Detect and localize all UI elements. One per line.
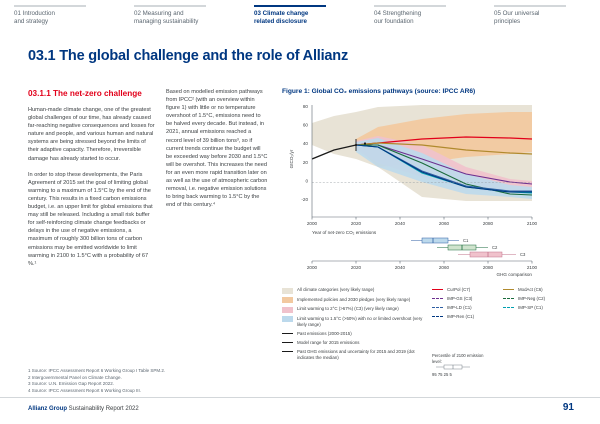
svg-text:2080: 2080: [483, 265, 494, 270]
nav-rule: [134, 5, 206, 7]
legend-item-past-emissions: Past emissions (2000-2015): [282, 331, 432, 337]
svg-text:2040: 2040: [395, 265, 406, 270]
percentile-note: Percentile of 2100 emission level: 95 75…: [432, 353, 492, 378]
legend-item-1p5c: Limit warming to 1.5°C (>50%) with no or…: [282, 316, 432, 328]
paragraph-2: In order to stop these developments, the…: [28, 171, 156, 268]
legend-label: CurPol (C7): [447, 287, 503, 293]
page-number: 91: [563, 402, 574, 413]
nav-rule: [494, 5, 566, 7]
legend-label: IMP-Neg (C2): [518, 296, 574, 302]
legend-item-imp-gs: IMP-GS (C3): [432, 296, 503, 302]
nav-item-universal-principles[interactable]: 05 Our universal principles: [480, 0, 600, 40]
legend-label: Past emissions (2000-2015): [297, 331, 432, 337]
legend-range-icon: [282, 342, 293, 343]
svg-text:2000: 2000: [307, 265, 318, 270]
legend-label: ModAct (C6): [518, 287, 574, 293]
legend-item-imp-ld: IMP-LD (C1): [432, 305, 503, 311]
svg-text:-20: -20: [301, 197, 308, 202]
legend-line-icon: [282, 333, 293, 334]
legend-label: Past GHG emissions and uncertainty for 2…: [297, 349, 432, 361]
paragraph-3: Based on modelled emission pathways from…: [166, 88, 268, 209]
chart-legend: All climate categories (very likely rang…: [282, 287, 574, 364]
nav-item-line1: 01 Introduction: [14, 10, 114, 18]
nav-item-strengthening[interactable]: 04 Strengthening our foundation: [360, 0, 480, 40]
page-footer: Allianz Group Sustainability Report 2022…: [0, 397, 600, 424]
svg-text:0: 0: [305, 178, 308, 183]
legend-line-icon: [503, 298, 514, 299]
nav-item-line2: our foundation: [374, 18, 474, 26]
paragraph-1: Human-made climate change, one of the gr…: [28, 106, 156, 163]
legend-label: IMP-LD (C1): [447, 305, 503, 311]
legend-spacer: [503, 314, 574, 320]
footer-document-label: Allianz Group Sustainability Report 2022: [28, 406, 139, 412]
nav-item-line2: related disclosure: [254, 18, 354, 26]
footnotes: 1 Source: IPCC Assessment Report 6 Worki…: [28, 368, 268, 394]
legend-line-icon: [432, 307, 443, 308]
nav-item-introduction[interactable]: 01 Introduction and strategy: [0, 0, 120, 40]
emissions-pathways-chart: 80 60 40 20 0 -20 GtCO₂/yr: [282, 101, 574, 281]
legend-line-icon: [432, 316, 443, 317]
past-ghg-dot-2015: [355, 144, 357, 146]
top-navigation: 01 Introduction and strategy 02 Measurin…: [0, 0, 600, 40]
svg-text:2100: 2100: [527, 265, 538, 270]
svg-text:20: 20: [303, 160, 309, 165]
legend-label: Implemented policies and 2030 pledges (v…: [297, 297, 432, 303]
svg-text:40: 40: [303, 141, 309, 146]
legend-item-model-range: Model range for 2015 emissions: [282, 340, 432, 346]
past-ghg-dot-2019: [364, 142, 366, 144]
legend-swatch-icon: [282, 316, 293, 322]
section-title: 03.1.1 The net-zero challenge: [28, 88, 156, 99]
legend-item-modact: ModAct (C6): [503, 287, 574, 293]
middle-text-column: Based on modelled emission pathways from…: [166, 88, 268, 217]
legend-swatch-icon: [282, 307, 293, 313]
legend-label: IMP-Ren (C1): [447, 314, 503, 320]
legend-item-2c: Limit warming to 2°C (>67%) (C3) (very l…: [282, 306, 432, 313]
netzero-boxplots: C1 C2 C3: [411, 238, 526, 257]
legend-item-all-categories: All climate categories (very likely rang…: [282, 287, 432, 294]
x-ticks-main: 2000 2020 2040 2060 2080 2100: [307, 217, 538, 226]
chart-area: 80 60 40 20 0 -20 GtCO₂/yr: [282, 101, 574, 281]
nav-rule: [14, 5, 86, 7]
middle-body-text: Based on modelled emission pathways from…: [166, 88, 268, 209]
x-ticks-sub: 2000 2020 2040 2060 2080 2100: [307, 261, 538, 270]
legend-column-left: All climate categories (very likely rang…: [282, 287, 432, 364]
legend-item-imp-sp: IMP-SP (C1): [503, 305, 574, 311]
nav-item-line1: 05 Our universal: [494, 10, 594, 18]
legend-line-icon: [432, 298, 443, 299]
svg-text:2060: 2060: [439, 221, 450, 226]
svg-text:80: 80: [303, 104, 309, 109]
left-text-column: 03.1.1 The net-zero challenge Human-made…: [28, 88, 156, 276]
svg-text:2100: 2100: [527, 221, 538, 226]
svg-text:GtCO₂/yr: GtCO₂/yr: [289, 149, 294, 168]
footnote-3: 3 Source: U.N. Emission Gap Report 2022.: [28, 381, 268, 388]
footer-doc: Sustainability Report 2022: [69, 406, 139, 412]
svg-text:C3: C3: [520, 252, 526, 257]
nav-item-line2: principles: [494, 18, 594, 26]
svg-text:C2: C2: [492, 245, 498, 250]
legend-item-imp-ren: IMP-Ren (C1): [432, 314, 503, 320]
footnote-4: 4 Source: IPCC Assessment Report 6 Worki…: [28, 388, 268, 395]
nav-item-line2: and strategy: [14, 18, 114, 26]
legend-item-imp-neg: IMP-Neg (C2): [503, 296, 574, 302]
footer-brand: Allianz Group: [28, 406, 69, 412]
percentile-note-text: Percentile of 2100 emission level:: [432, 353, 492, 364]
legend-swatch-icon: [282, 297, 293, 303]
legend-line-icon: [503, 307, 514, 308]
svg-text:2080: 2080: [483, 221, 494, 226]
percentile-scale-icon: [432, 364, 480, 372]
legend-dot-icon: [282, 351, 293, 352]
svg-text:2020: 2020: [351, 221, 362, 226]
legend-item-implemented-policies: Implemented policies and 2030 pledges (v…: [282, 297, 432, 304]
ghg-comparison-label: GHG comparison: [497, 272, 533, 277]
legend-label: Model range for 2015 emissions: [297, 340, 432, 346]
footnote-1: 1 Source: IPCC Assessment Report 6 Worki…: [28, 368, 268, 375]
percentile-ticks-text: 95 75 25 5: [432, 372, 492, 378]
nav-item-line2: managing sustainability: [134, 18, 234, 26]
nav-item-line1: 02 Measuring and: [134, 10, 234, 18]
figure-title: Figure 1: Global CO₂ emissions pathways …: [282, 88, 574, 95]
legend-item-past-ghg: Past GHG emissions and uncertainty for 2…: [282, 349, 432, 361]
left-body-text: Human-made climate change, one of the gr…: [28, 106, 156, 268]
nav-item-climate-change[interactable]: 03 Climate change related disclosure: [240, 0, 360, 40]
svg-text:2000: 2000: [307, 221, 318, 226]
svg-text:C1: C1: [463, 238, 469, 243]
svg-text:2020: 2020: [351, 265, 362, 270]
svg-text:60: 60: [303, 123, 309, 128]
nav-item-line1: 04 Strengthening: [374, 10, 474, 18]
legend-swatch-icon: [282, 288, 293, 294]
legend-line-icon: [503, 289, 514, 290]
nav-rule: [374, 5, 446, 7]
legend-label: Limit warming to 2°C (>67%) (C3) (very l…: [297, 306, 432, 312]
nav-rule: [254, 5, 326, 7]
legend-label: IMP-SP (C1): [518, 305, 574, 311]
legend-label: All climate categories (very likely rang…: [297, 287, 432, 293]
subplot-caption: Year of net-zero CO₂ emissions: [312, 230, 377, 235]
footnote-2: 2 Intergovernmental Panel on Climate Cha…: [28, 375, 268, 382]
legend-label: IMP-GS (C3): [447, 296, 503, 302]
nav-item-line1: 03 Climate change: [254, 10, 354, 18]
nav-item-measuring[interactable]: 02 Measuring and managing sustainability: [120, 0, 240, 40]
legend-label: Limit warming to 1.5°C (>50%) with no or…: [297, 316, 432, 328]
figure-1: Figure 1: Global CO₂ emissions pathways …: [282, 88, 574, 364]
svg-text:2060: 2060: [439, 265, 450, 270]
legend-item-curpol: CurPol (C7): [432, 287, 503, 293]
svg-text:2040: 2040: [395, 221, 406, 226]
legend-line-icon: [432, 289, 443, 290]
page-title: 03.1 The global challenge and the role o…: [28, 48, 348, 64]
